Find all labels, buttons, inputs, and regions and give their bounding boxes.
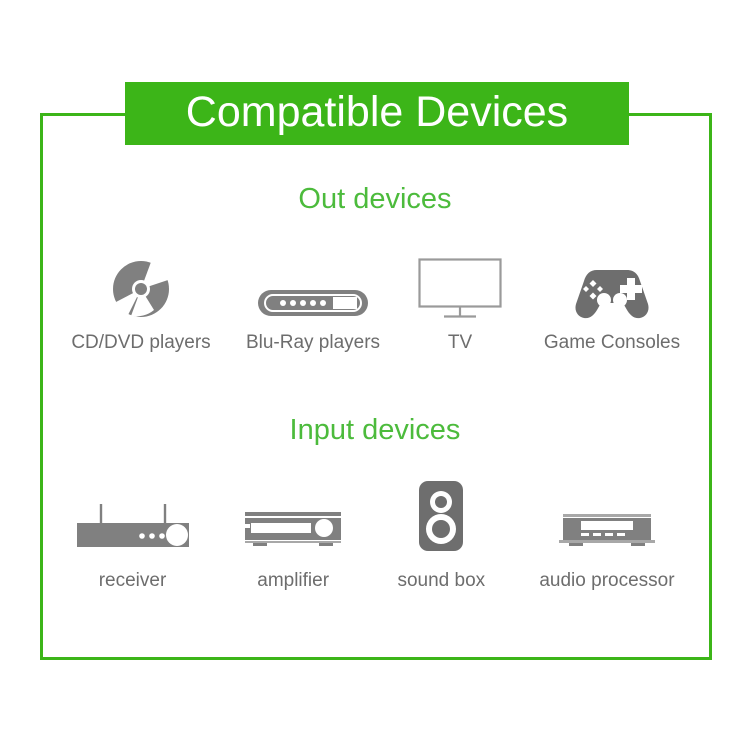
- device-label: Blu-Ray players: [246, 332, 380, 354]
- device-audio-processor: audio processor: [522, 480, 692, 592]
- audio-processor-icon: [555, 480, 659, 552]
- input-devices-row: receiver amplifier: [60, 480, 692, 592]
- gamepad-icon: [570, 248, 654, 320]
- device-tv: TV: [404, 248, 516, 354]
- device-label: receiver: [99, 570, 167, 592]
- av-receiver-icon: [73, 480, 193, 552]
- out-devices-row: CD/DVD players Blu-Ray players: [60, 248, 692, 354]
- device-game-consoles: Game Consoles: [532, 248, 692, 354]
- device-sound-box: sound box: [381, 480, 501, 592]
- device-label: sound box: [397, 570, 485, 592]
- speaker-icon: [416, 480, 466, 552]
- device-label: Game Consoles: [544, 332, 680, 354]
- device-label: audio processor: [539, 570, 674, 592]
- section-heading-out-devices: Out devices: [0, 183, 750, 216]
- device-label: CD/DVD players: [71, 332, 210, 354]
- page-title: Compatible Devices: [186, 91, 568, 134]
- device-amplifier: amplifier: [226, 480, 361, 592]
- television-icon: [418, 248, 502, 320]
- amplifier-icon: [241, 480, 345, 552]
- device-label: amplifier: [257, 570, 329, 592]
- device-receiver: receiver: [60, 480, 205, 592]
- device-label: TV: [448, 332, 472, 354]
- bluray-player-icon: [257, 248, 369, 320]
- device-cd-dvd-players: CD/DVD players: [60, 248, 222, 354]
- compact-disc-icon: [110, 248, 172, 320]
- section-heading-input-devices: Input devices: [0, 414, 750, 447]
- compatible-devices-infographic: Compatible Devices Out devices: [0, 0, 750, 750]
- device-bluray-players: Blu-Ray players: [238, 248, 388, 354]
- title-banner: Compatible Devices: [125, 82, 629, 145]
